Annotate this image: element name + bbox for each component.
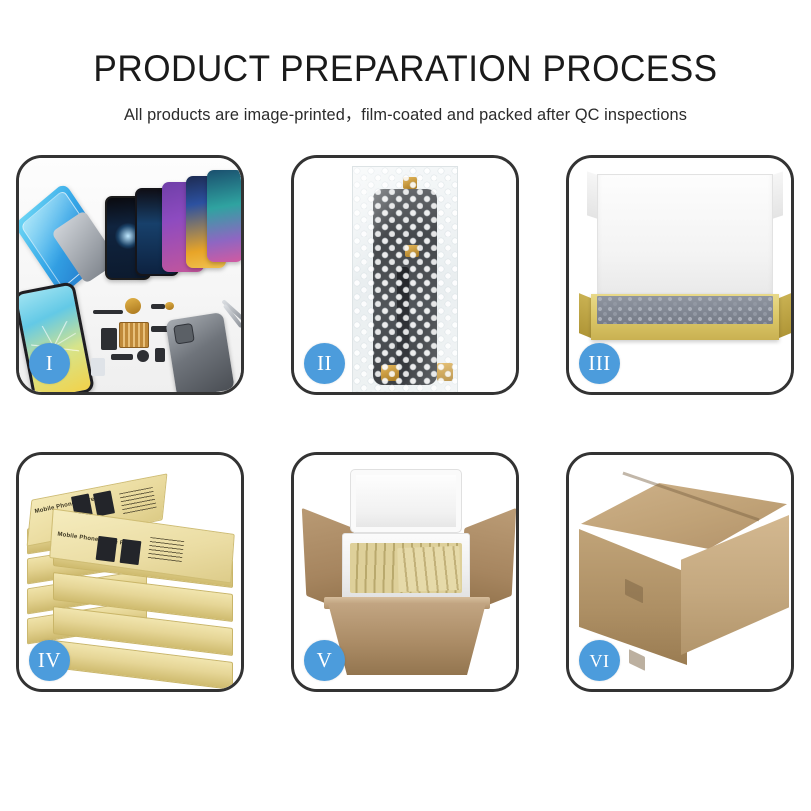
step-badge-2: II (304, 343, 345, 384)
white-box-lid (597, 174, 773, 300)
spare-part-icon (91, 358, 105, 376)
spare-part-icon (93, 310, 123, 314)
process-step-card-1[interactable]: I (16, 155, 244, 395)
step-badge-4: IV (29, 640, 70, 681)
tray-side-right (777, 293, 791, 339)
grey-foam-padding (597, 296, 773, 324)
process-step-card-3[interactable]: III (566, 155, 794, 395)
gold-boxes-contents (397, 546, 460, 592)
process-step-grid: I II (16, 155, 796, 692)
process-step-card-5[interactable]: V (291, 452, 519, 692)
page-header: PRODUCT PREPARATION PROCESS All products… (0, 0, 811, 125)
bubble-wrap-bag (352, 166, 458, 392)
step-badge-3: III (579, 343, 620, 384)
process-step-card-6[interactable]: VI (566, 452, 794, 692)
spare-part-icon (165, 302, 174, 310)
step-badge-6: VI (579, 640, 620, 681)
carton-body (328, 603, 486, 675)
product-preparation-process-page: PRODUCT PREPARATION PROCESS All products… (0, 0, 811, 811)
process-step-row-2: Mobile Phone Spare Parts Mobile Phone Sp… (16, 452, 796, 692)
foam-box-lid (350, 469, 462, 533)
spare-part-icon (101, 328, 117, 350)
screen-panel-icon (207, 170, 241, 262)
spare-part-icon (155, 348, 165, 362)
process-step-row-1: I II (16, 155, 796, 395)
plastic-sheen (353, 167, 457, 392)
camera-part-icon (137, 350, 149, 362)
box-artwork-swatch (120, 539, 142, 565)
page-subtitle: All products are image-printed，film-coat… (4, 101, 807, 125)
carton-tape-mark (629, 649, 645, 671)
chip-array-icon (119, 322, 149, 348)
process-step-card-2[interactable]: II (291, 155, 519, 395)
process-step-card-4[interactable]: Mobile Phone Spare Parts Mobile Phone Sp… (16, 452, 244, 692)
box-artwork-swatch (96, 536, 118, 562)
back-housing-icon (165, 312, 234, 392)
box-spec-lines (148, 537, 184, 563)
step-badge-1: I (29, 343, 70, 384)
step-badge-5: V (304, 640, 345, 681)
spare-part-icon (111, 354, 133, 360)
speaker-part-icon (125, 298, 141, 314)
page-title: PRODUCT PREPARATION PROCESS (20, 50, 790, 87)
spare-part-icon (151, 304, 165, 309)
